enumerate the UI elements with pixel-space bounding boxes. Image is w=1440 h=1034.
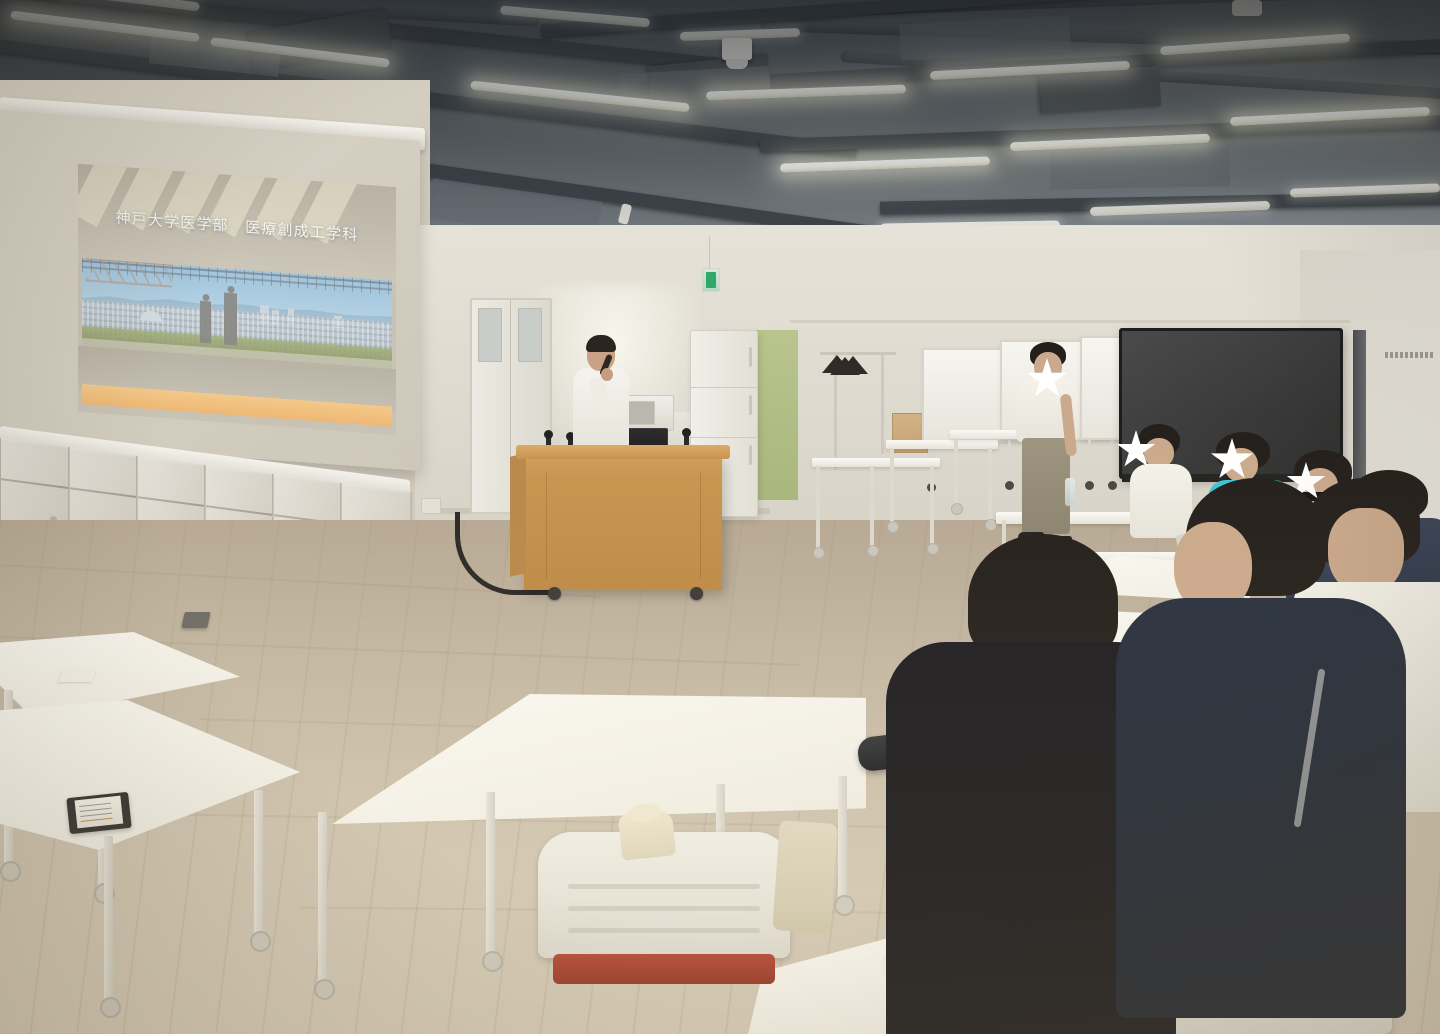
slide-figure-left [200, 301, 211, 344]
drink-bottle [1065, 478, 1075, 506]
beige-bag [772, 820, 838, 934]
ceiling-spotlight-icon [618, 203, 633, 225]
foreground-student-black [916, 534, 1146, 1034]
ceiling-projector-icon [722, 38, 752, 60]
wall-outlet-icon [421, 498, 441, 514]
paper-sheet [58, 670, 97, 682]
podium [524, 455, 722, 590]
floor-outlet-box [181, 612, 210, 628]
ceiling-spotlight-icon-2 [1232, 0, 1262, 16]
foreground-student-navy [1158, 478, 1388, 1034]
green-wall-panel [754, 330, 798, 500]
wall-sign-label [1385, 352, 1433, 358]
student-shirt [1116, 598, 1406, 1018]
exit-sign-wire [709, 236, 710, 269]
table-leg [838, 776, 847, 904]
chair-seat [553, 954, 775, 984]
table-leg [254, 790, 263, 940]
lecture-room-photo: 神戸大学医学部 医療創成工学科 [0, 0, 1440, 1034]
table-leg [318, 812, 327, 988]
tote-bag-on-chair [618, 809, 677, 860]
table-leg [104, 836, 113, 1006]
exit-sign-icon [702, 268, 720, 292]
notebook-prop [66, 792, 131, 834]
presentation-slide: 神戸大学医学部 医療創成工学科 [78, 164, 396, 435]
slide-figure-right [224, 292, 237, 345]
coat-rack [820, 352, 896, 470]
projection-screen: 神戸大学医学部 医療創成工学科 [0, 110, 420, 471]
table-leg [486, 792, 495, 960]
